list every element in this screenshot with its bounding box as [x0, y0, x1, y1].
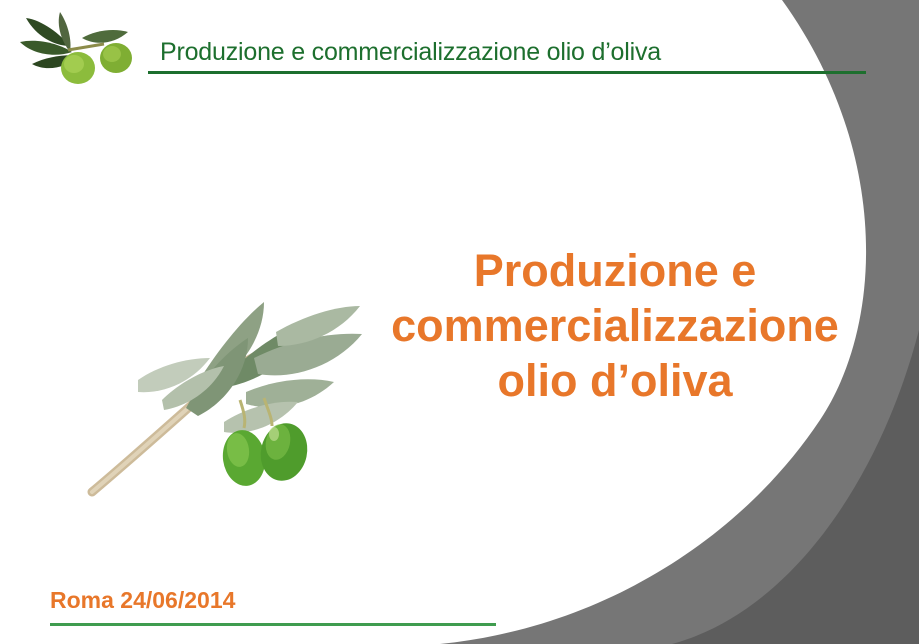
- slide-title: Produzione e commercializzazione olio d’…: [330, 243, 900, 408]
- slide-title-line-3: olio d’oliva: [330, 353, 900, 408]
- header-divider: [148, 71, 866, 74]
- slide-title-line-2: commercializzazione: [330, 298, 900, 353]
- page-title: Produzione e commercializzazione olio d’…: [160, 38, 661, 67]
- footer-divider: [50, 623, 496, 626]
- footer-date: Roma 24/06/2014: [50, 587, 235, 614]
- olive-branch-icon: [8, 2, 148, 102]
- presentation-slide: Produzione e commercializzazione olio d’…: [0, 0, 919, 644]
- olive-branch-illustration: [78, 262, 368, 507]
- slide-title-line-1: Produzione e: [330, 243, 900, 298]
